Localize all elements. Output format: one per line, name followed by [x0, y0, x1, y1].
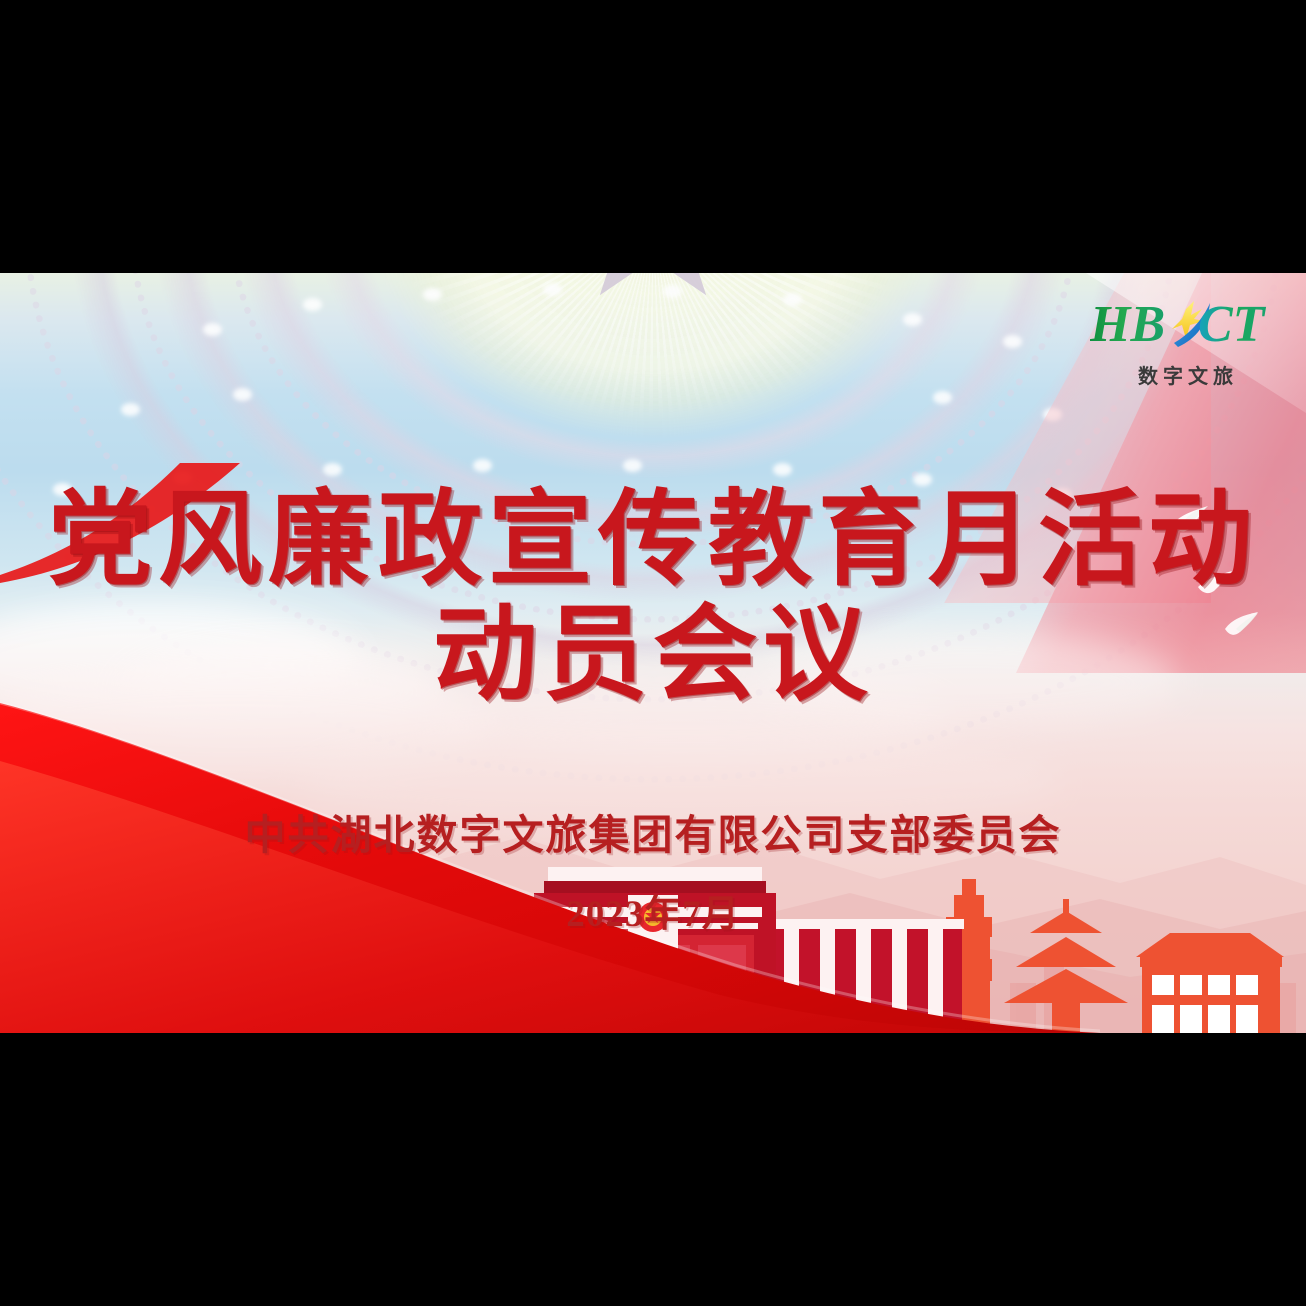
brand-logo[interactable]: HB CT 数字文旅 — [1088, 295, 1288, 389]
subtitle-organization: 中共湖北数字文旅集团有限公司支部委员会 — [0, 801, 1306, 861]
subtitle-date: 2023年7月 — [0, 883, 1306, 937]
red-star-icon — [558, 273, 748, 318]
svg-text:HB: HB — [1090, 296, 1165, 353]
logo-subtitle: 数字文旅 — [1088, 360, 1288, 389]
subtitle-block: 中共湖北数字文旅集团有限公司支部委员会 2023年7月 — [0, 801, 1306, 937]
title-line-1: 党风廉政宣传教育月活动 — [0, 485, 1306, 596]
title-block: 党风廉政宣传教育月活动 动员会议 — [0, 485, 1306, 712]
hbdct-logo-icon: HB CT — [1090, 295, 1286, 357]
dome-light-beams — [373, 273, 933, 438]
svg-text:CT: CT — [1198, 296, 1267, 353]
title-line-2: 动员会议 — [0, 600, 1306, 711]
poster-canvas: 党风廉政宣传教育月活动 动员会议 中共湖北数字文旅集团有限公司支部委员会 202… — [0, 273, 1306, 1033]
slide-frame: 党风廉政宣传教育月活动 动员会议 中共湖北数字文旅集团有限公司支部委员会 202… — [0, 0, 1306, 1306]
